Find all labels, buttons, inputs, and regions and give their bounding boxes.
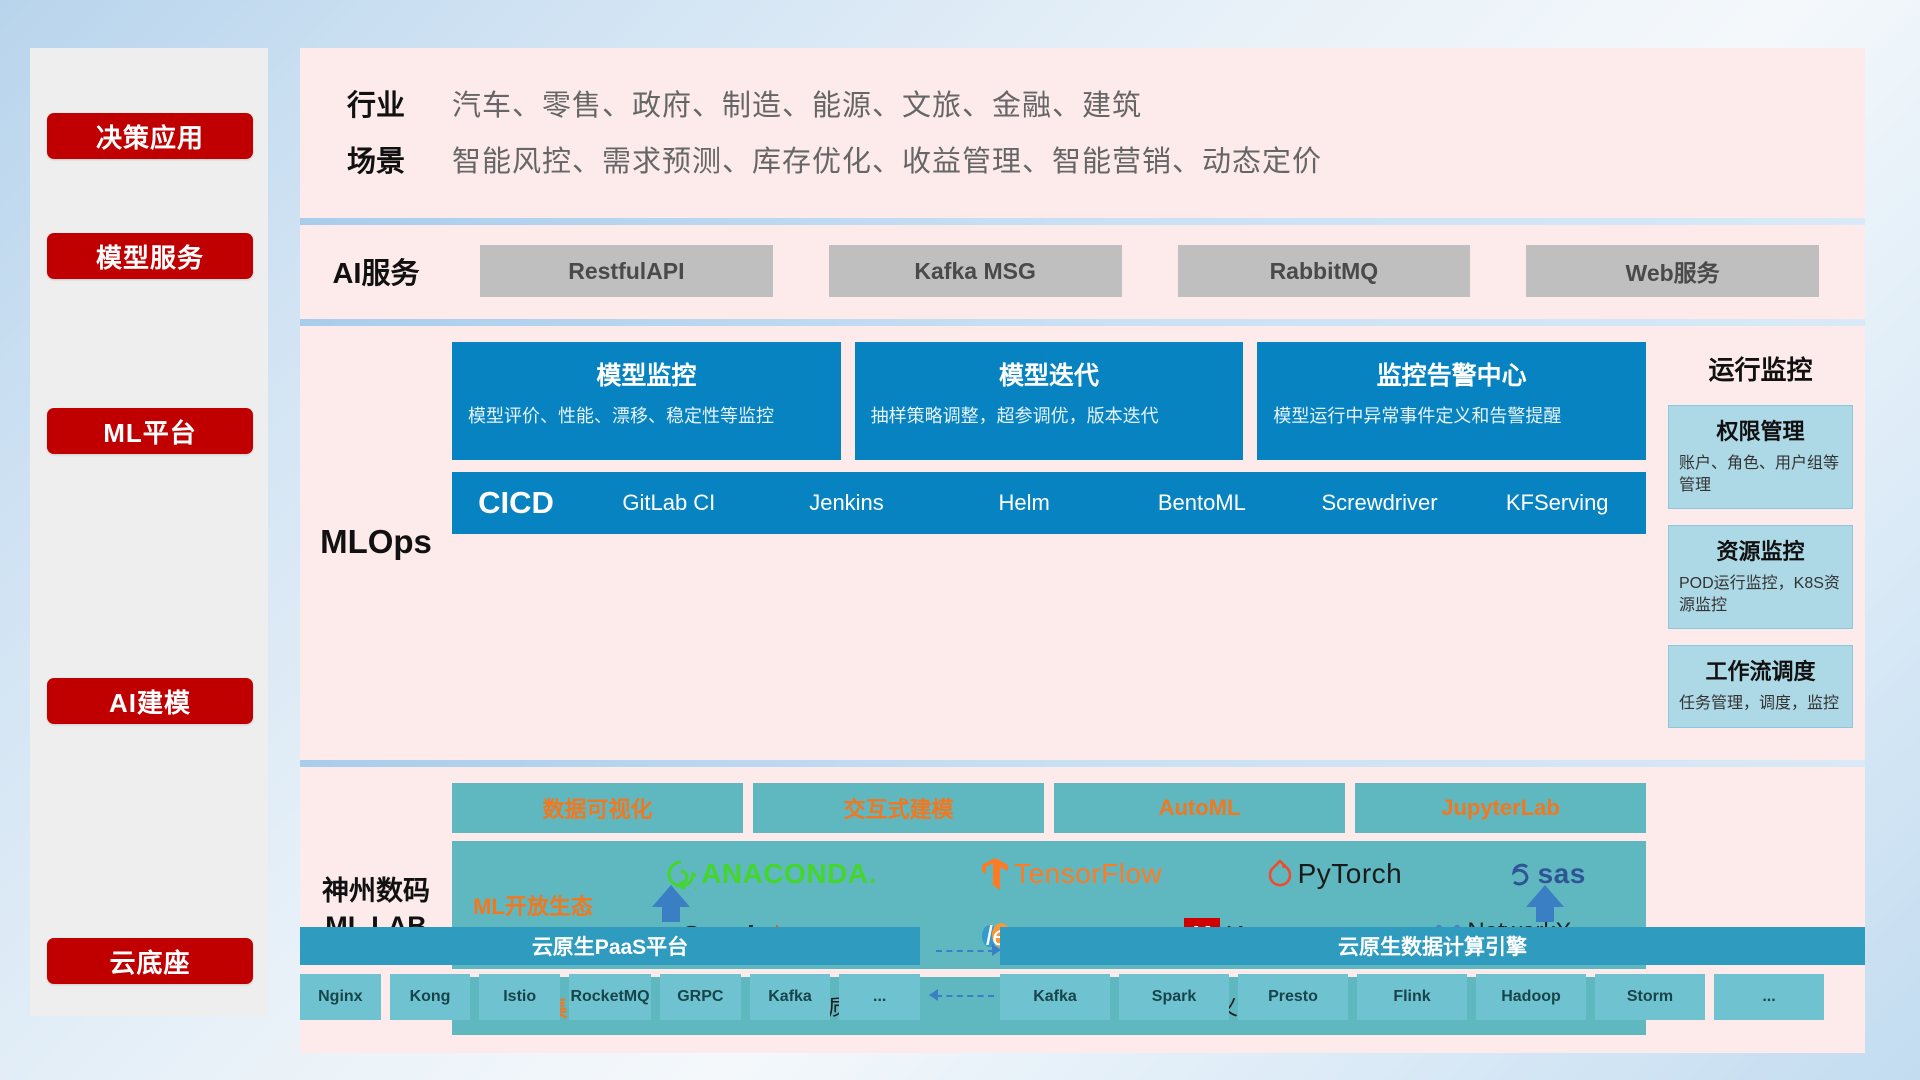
tab-jupyterlab[interactable]: JupyterLab	[1355, 783, 1646, 833]
stage-rail: 决策应用 模型服务 ML平台 AI建模 云底座	[30, 48, 268, 1016]
tensorflow-icon	[981, 857, 1009, 891]
sas-icon	[1507, 861, 1533, 887]
monitoring-column: 运行监控 权限管理 账户、角色、用户组等管理 资源监控 POD运行监控，K8S资…	[1660, 326, 1865, 760]
arrow-up-left-stem	[662, 906, 680, 922]
rail-item-label: 云底座	[109, 943, 190, 980]
ai-service-chip-list: RestfulAPI Kafka MSG RabbitMQ Web服务	[452, 245, 1865, 297]
ml-lab-tab-list: 数据可视化 交互式建模 AutoML JupyterLab	[452, 783, 1646, 833]
data-engine-bar: 云原生数据计算引擎	[1000, 927, 1865, 965]
tab-data-visualization[interactable]: 数据可视化	[452, 783, 743, 833]
paas-chip-grpc[interactable]: GRPC	[660, 974, 741, 1020]
tab-interactive-modeling[interactable]: 交互式建模	[753, 783, 1044, 833]
mlops-section: MLOps 模型监控 模型评价、性能、漂移、稳定性等监控 模型迭代 抽样策略调整…	[300, 326, 1660, 760]
pytorch-logo: PyTorch	[1267, 858, 1403, 890]
ai-service-chip[interactable]: RestfulAPI	[480, 245, 773, 297]
engine-chip-kafka[interactable]: Kafka	[1000, 974, 1110, 1020]
rail-item-ai-modeling[interactable]: AI建模	[47, 678, 253, 724]
anaconda-logo: ANACONDA.	[666, 858, 877, 890]
industry-label: 行业	[300, 82, 452, 124]
cicd-bar: CICD GitLab CI Jenkins Helm BentoML Scre…	[452, 472, 1646, 534]
pytorch-logo-text: PyTorch	[1298, 858, 1403, 890]
mlops-label: MLOps	[300, 342, 452, 742]
scenario-row: 场景 智能风控、需求预测、库存优化、收益管理、智能营销、动态定价	[300, 138, 1865, 180]
cicd-item-jenkins[interactable]: Jenkins	[758, 490, 936, 515]
dashed-arrow-right	[992, 944, 1001, 956]
band-ai-service: AI服务 RestfulAPI Kafka MSG RabbitMQ Web服务	[300, 218, 1865, 319]
paas-chip-more[interactable]: ...	[839, 974, 920, 1020]
engine-chip-hadoop[interactable]: Hadoop	[1476, 974, 1586, 1020]
rail-item-cloud-base[interactable]: 云底座	[47, 938, 253, 984]
ai-service-chip[interactable]: Web服务	[1526, 245, 1819, 297]
mlops-card-list: 模型监控 模型评价、性能、漂移、稳定性等监控 模型迭代 抽样策略调整，超参调优，…	[452, 342, 1646, 460]
scenario-value: 智能风控、需求预测、库存优化、收益管理、智能营销、动态定价	[452, 138, 1322, 180]
cicd-item-gitlab-ci[interactable]: GitLab CI	[580, 490, 758, 515]
card-title: 资源监控	[1679, 534, 1842, 566]
cicd-title: CICD	[452, 485, 580, 521]
monitoring-card-workflow[interactable]: 工作流调度 任务管理，调度，监控	[1668, 645, 1853, 728]
rail-item-label: ML平台	[103, 413, 197, 450]
band-decision-application: 行业 汽车、零售、政府、制造、能源、文旅、金融、建筑 场景 智能风控、需求预测、…	[300, 48, 1865, 218]
monitoring-card-permission[interactable]: 权限管理 账户、角色、用户组等管理	[1668, 405, 1853, 509]
architecture-stack: 行业 汽车、零售、政府、制造、能源、文旅、金融、建筑 场景 智能风控、需求预测、…	[300, 48, 1865, 1053]
card-desc: 账户、角色、用户组等管理	[1679, 453, 1842, 496]
dashed-connector-bottom	[936, 995, 994, 997]
paas-chip-rocketmq[interactable]: RocketMQ	[569, 974, 651, 1020]
cicd-item-helm[interactable]: Helm	[935, 490, 1113, 515]
card-title: 工作流调度	[1679, 654, 1842, 686]
rail-item-label: AI建模	[109, 683, 191, 720]
ai-service-chip[interactable]: RabbitMQ	[1178, 245, 1471, 297]
rail-item-label: 决策应用	[96, 118, 204, 155]
card-title: 模型迭代	[871, 356, 1228, 392]
mlops-body: 模型监控 模型评价、性能、漂移、稳定性等监控 模型迭代 抽样策略调整，超参调优，…	[452, 342, 1660, 742]
mlops-card-alert-center[interactable]: 监控告警中心 模型运行中异常事件定义和告警提醒	[1257, 342, 1646, 460]
card-title: 模型监控	[468, 356, 825, 392]
card-title: 权限管理	[1679, 414, 1842, 446]
engine-chip-spark[interactable]: Spark	[1119, 974, 1229, 1020]
cicd-item-screwdriver[interactable]: Screwdriver	[1291, 490, 1469, 515]
pytorch-icon	[1267, 859, 1293, 889]
tab-automl[interactable]: AutoML	[1054, 783, 1345, 833]
tensorflow-logo-text: TensorFlow	[1014, 858, 1162, 890]
card-desc: 模型评价、性能、漂移、稳定性等监控	[468, 404, 825, 428]
cicd-item-kfserving[interactable]: KFServing	[1468, 490, 1646, 515]
arrow-up-right-head	[1526, 885, 1564, 907]
paas-chip-kong[interactable]: Kong	[390, 974, 471, 1020]
paas-bar: 云原生PaaS平台	[300, 927, 920, 965]
anaconda-logo-text: ANACONDA.	[701, 858, 877, 890]
engine-chip-presto[interactable]: Presto	[1238, 974, 1348, 1020]
monitoring-title: 运行监控	[1668, 350, 1853, 387]
data-engine-group: 云原生数据计算引擎 Kafka Spark Presto Flink Hadoo…	[1000, 927, 1865, 1020]
tensorflow-logo: TensorFlow	[981, 857, 1162, 891]
ai-service-label: AI服务	[300, 250, 452, 292]
engine-chip-more[interactable]: ...	[1714, 974, 1824, 1020]
engine-chip-flink[interactable]: Flink	[1357, 974, 1467, 1020]
ml-ecosystem-label: ML开放生态	[452, 889, 614, 921]
card-desc: 模型运行中异常事件定义和告警提醒	[1273, 404, 1630, 428]
ai-service-chip[interactable]: Kafka MSG	[829, 245, 1122, 297]
mlops-card-model-monitoring[interactable]: 模型监控 模型评价、性能、漂移、稳定性等监控	[452, 342, 841, 460]
mlops-card-model-iteration[interactable]: 模型迭代 抽样策略调整，超参调优，版本迭代	[855, 342, 1244, 460]
rail-item-ml-platform[interactable]: ML平台	[47, 408, 253, 454]
card-desc: 抽样策略调整，超参调优，版本迭代	[871, 404, 1228, 428]
dashed-connector-top	[936, 950, 994, 952]
card-title: 监控告警中心	[1273, 356, 1630, 392]
rail-item-decision-app[interactable]: 决策应用	[47, 113, 253, 159]
card-desc: POD运行监控，K8S资源监控	[1679, 573, 1842, 616]
data-engine-chip-list: Kafka Spark Presto Flink Hadoop Storm ..…	[1000, 974, 1865, 1020]
dashed-arrow-left	[929, 989, 938, 1001]
cicd-item-bentoml[interactable]: BentoML	[1113, 490, 1291, 515]
industry-row: 行业 汽车、零售、政府、制造、能源、文旅、金融、建筑	[300, 82, 1865, 124]
rail-item-model-service[interactable]: 模型服务	[47, 233, 253, 279]
logo-line-1: ANACONDA. TensorFlow	[614, 843, 1638, 905]
ml-lab-label-line1: 神州数码	[322, 874, 430, 909]
paas-chip-nginx[interactable]: Nginx	[300, 974, 381, 1020]
scenario-label: 场景	[300, 138, 452, 180]
rail-item-label: 模型服务	[96, 238, 204, 275]
band-ml-platform: MLOps 模型监控 模型评价、性能、漂移、稳定性等监控 模型迭代 抽样策略调整…	[300, 319, 1865, 760]
industry-value: 汽车、零售、政府、制造、能源、文旅、金融、建筑	[452, 82, 1142, 124]
paas-chip-list: Nginx Kong Istio RocketMQ GRPC Kafka ...	[300, 974, 920, 1020]
paas-group: 云原生PaaS平台 Nginx Kong Istio RocketMQ GRPC…	[300, 927, 920, 1020]
monitoring-card-resource[interactable]: 资源监控 POD运行监控，K8S资源监控	[1668, 525, 1853, 629]
paas-chip-istio[interactable]: Istio	[479, 974, 560, 1020]
paas-chip-kafka[interactable]: Kafka	[750, 974, 831, 1020]
arrow-up-right-stem	[1536, 906, 1554, 922]
engine-chip-storm[interactable]: Storm	[1595, 974, 1705, 1020]
card-desc: 任务管理，调度，监控	[1679, 693, 1842, 715]
arrow-up-left-head	[652, 885, 690, 907]
